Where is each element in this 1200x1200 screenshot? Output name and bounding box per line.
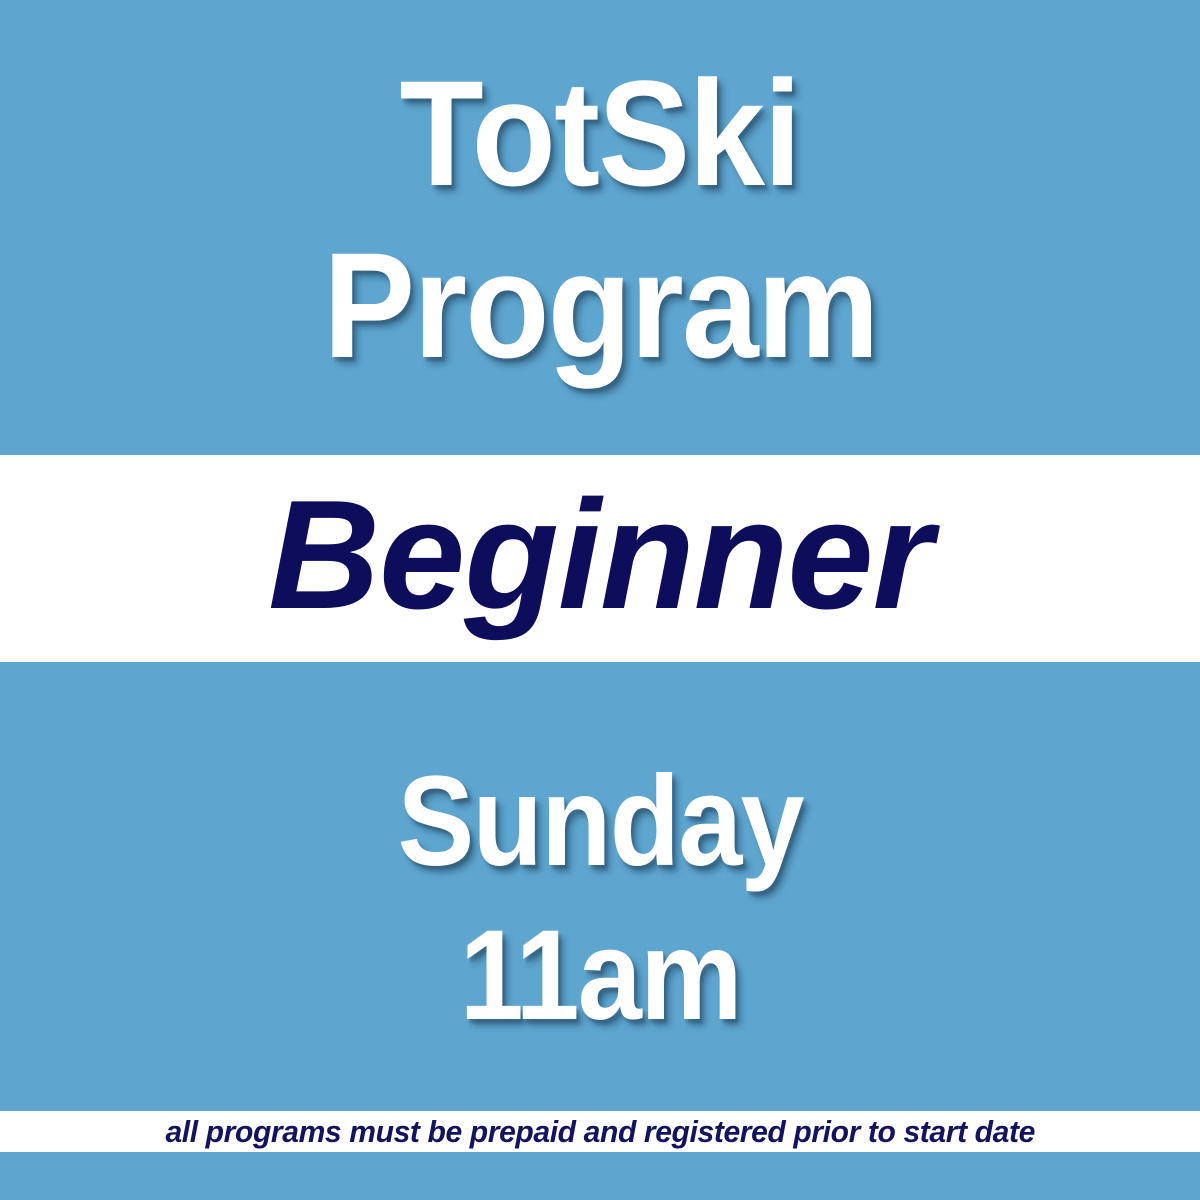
schedule-time: 11am [459,912,740,1040]
schedule-section: Sunday 11am [0,662,1200,1111]
registration-notice: all programs must be prepaid and registe… [165,1116,1035,1147]
title-section: TotSki Program [0,0,1200,455]
program-title-line-1: TotSki [400,58,800,208]
level-band: Beginner [0,455,1200,662]
footer-band: all programs must be prepaid and registe… [0,1111,1200,1152]
program-level-label: Beginner [268,477,932,632]
totski-program-poster: TotSki Program Beginner Sunday 11am all … [0,0,1200,1200]
program-title-line-2: Program [323,230,878,380]
schedule-day: Sunday [397,758,802,886]
